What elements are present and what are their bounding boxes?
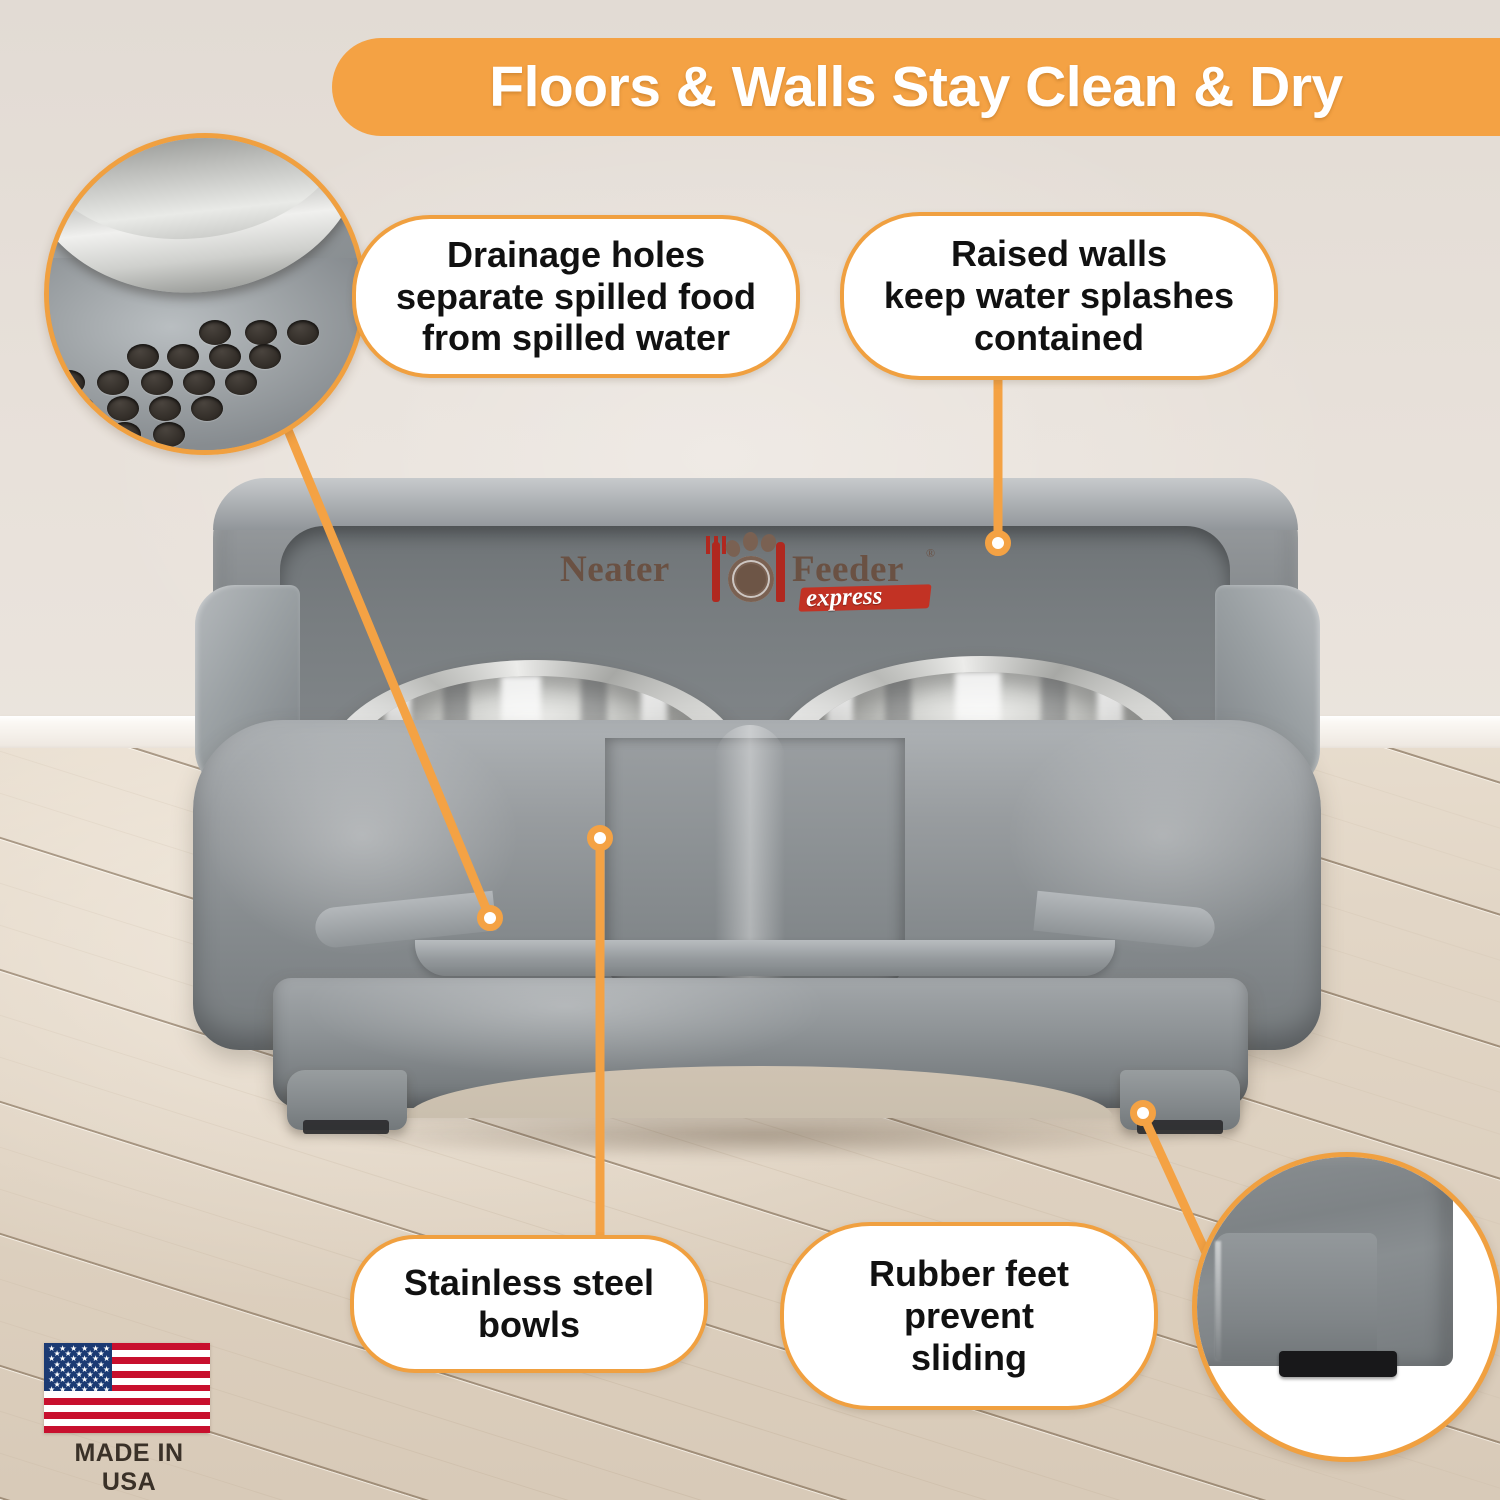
pointer-dot-stainless-bowls — [587, 825, 613, 851]
made-in-usa-label: MADE IN USA — [44, 1439, 214, 1497]
callout-feet-line1: Rubber feet — [869, 1253, 1069, 1294]
rubber-pad-closeup — [1279, 1351, 1397, 1377]
made-in-usa-badge: ★★★★★★★★★★★★★★★★★★★★★★★★★★★★★★★★★★★★★★★★… — [44, 1343, 224, 1473]
callout-bowls-line2: bowls — [478, 1304, 580, 1345]
rubber-foot-closeup-inset — [1192, 1152, 1500, 1462]
callout-walls-line1: Raised walls — [951, 233, 1167, 274]
feeder-foot-closeup — [1192, 1152, 1453, 1366]
callout-drainage-line1: Drainage holes — [447, 234, 705, 275]
foot-edge-highlight — [1215, 1241, 1221, 1361]
infographic-canvas: Neater Feeder ® express — [0, 0, 1500, 1500]
callout-drainage-holes[interactable]: Drainage holes separate spilled food fro… — [352, 215, 800, 378]
callout-feet-line3: sliding — [911, 1337, 1027, 1378]
callout-walls-line3: contained — [974, 317, 1144, 358]
callout-drainage-line3: from spilled water — [422, 317, 730, 358]
callout-raised-walls[interactable]: Raised walls keep water splashes contain… — [840, 212, 1278, 380]
drainage-holes-closeup-inset — [44, 133, 366, 455]
united-states-flag-icon: ★★★★★★★★★★★★★★★★★★★★★★★★★★★★★★★★★★★★★★★★… — [44, 1343, 210, 1433]
leader-line-drainage — [288, 430, 490, 918]
callout-bowls-line1: Stainless steel — [404, 1262, 654, 1303]
callout-rubber-feet[interactable]: Rubber feet prevent sliding — [780, 1222, 1158, 1410]
pointer-dot-raised-walls — [985, 530, 1011, 556]
callout-stainless-steel-bowls[interactable]: Stainless steel bowls — [350, 1235, 708, 1373]
callout-walls-line2: keep water splashes — [884, 275, 1234, 316]
callout-drainage-line2: separate spilled food — [396, 276, 756, 317]
pointer-dot-drainage — [477, 905, 503, 931]
flag-canton: ★★★★★★★★★★★★★★★★★★★★★★★★★★★★★★★★★★★★★★★★… — [44, 1343, 112, 1391]
callout-feet-line2: prevent — [904, 1295, 1034, 1336]
pointer-dot-rubber-feet — [1130, 1100, 1156, 1126]
